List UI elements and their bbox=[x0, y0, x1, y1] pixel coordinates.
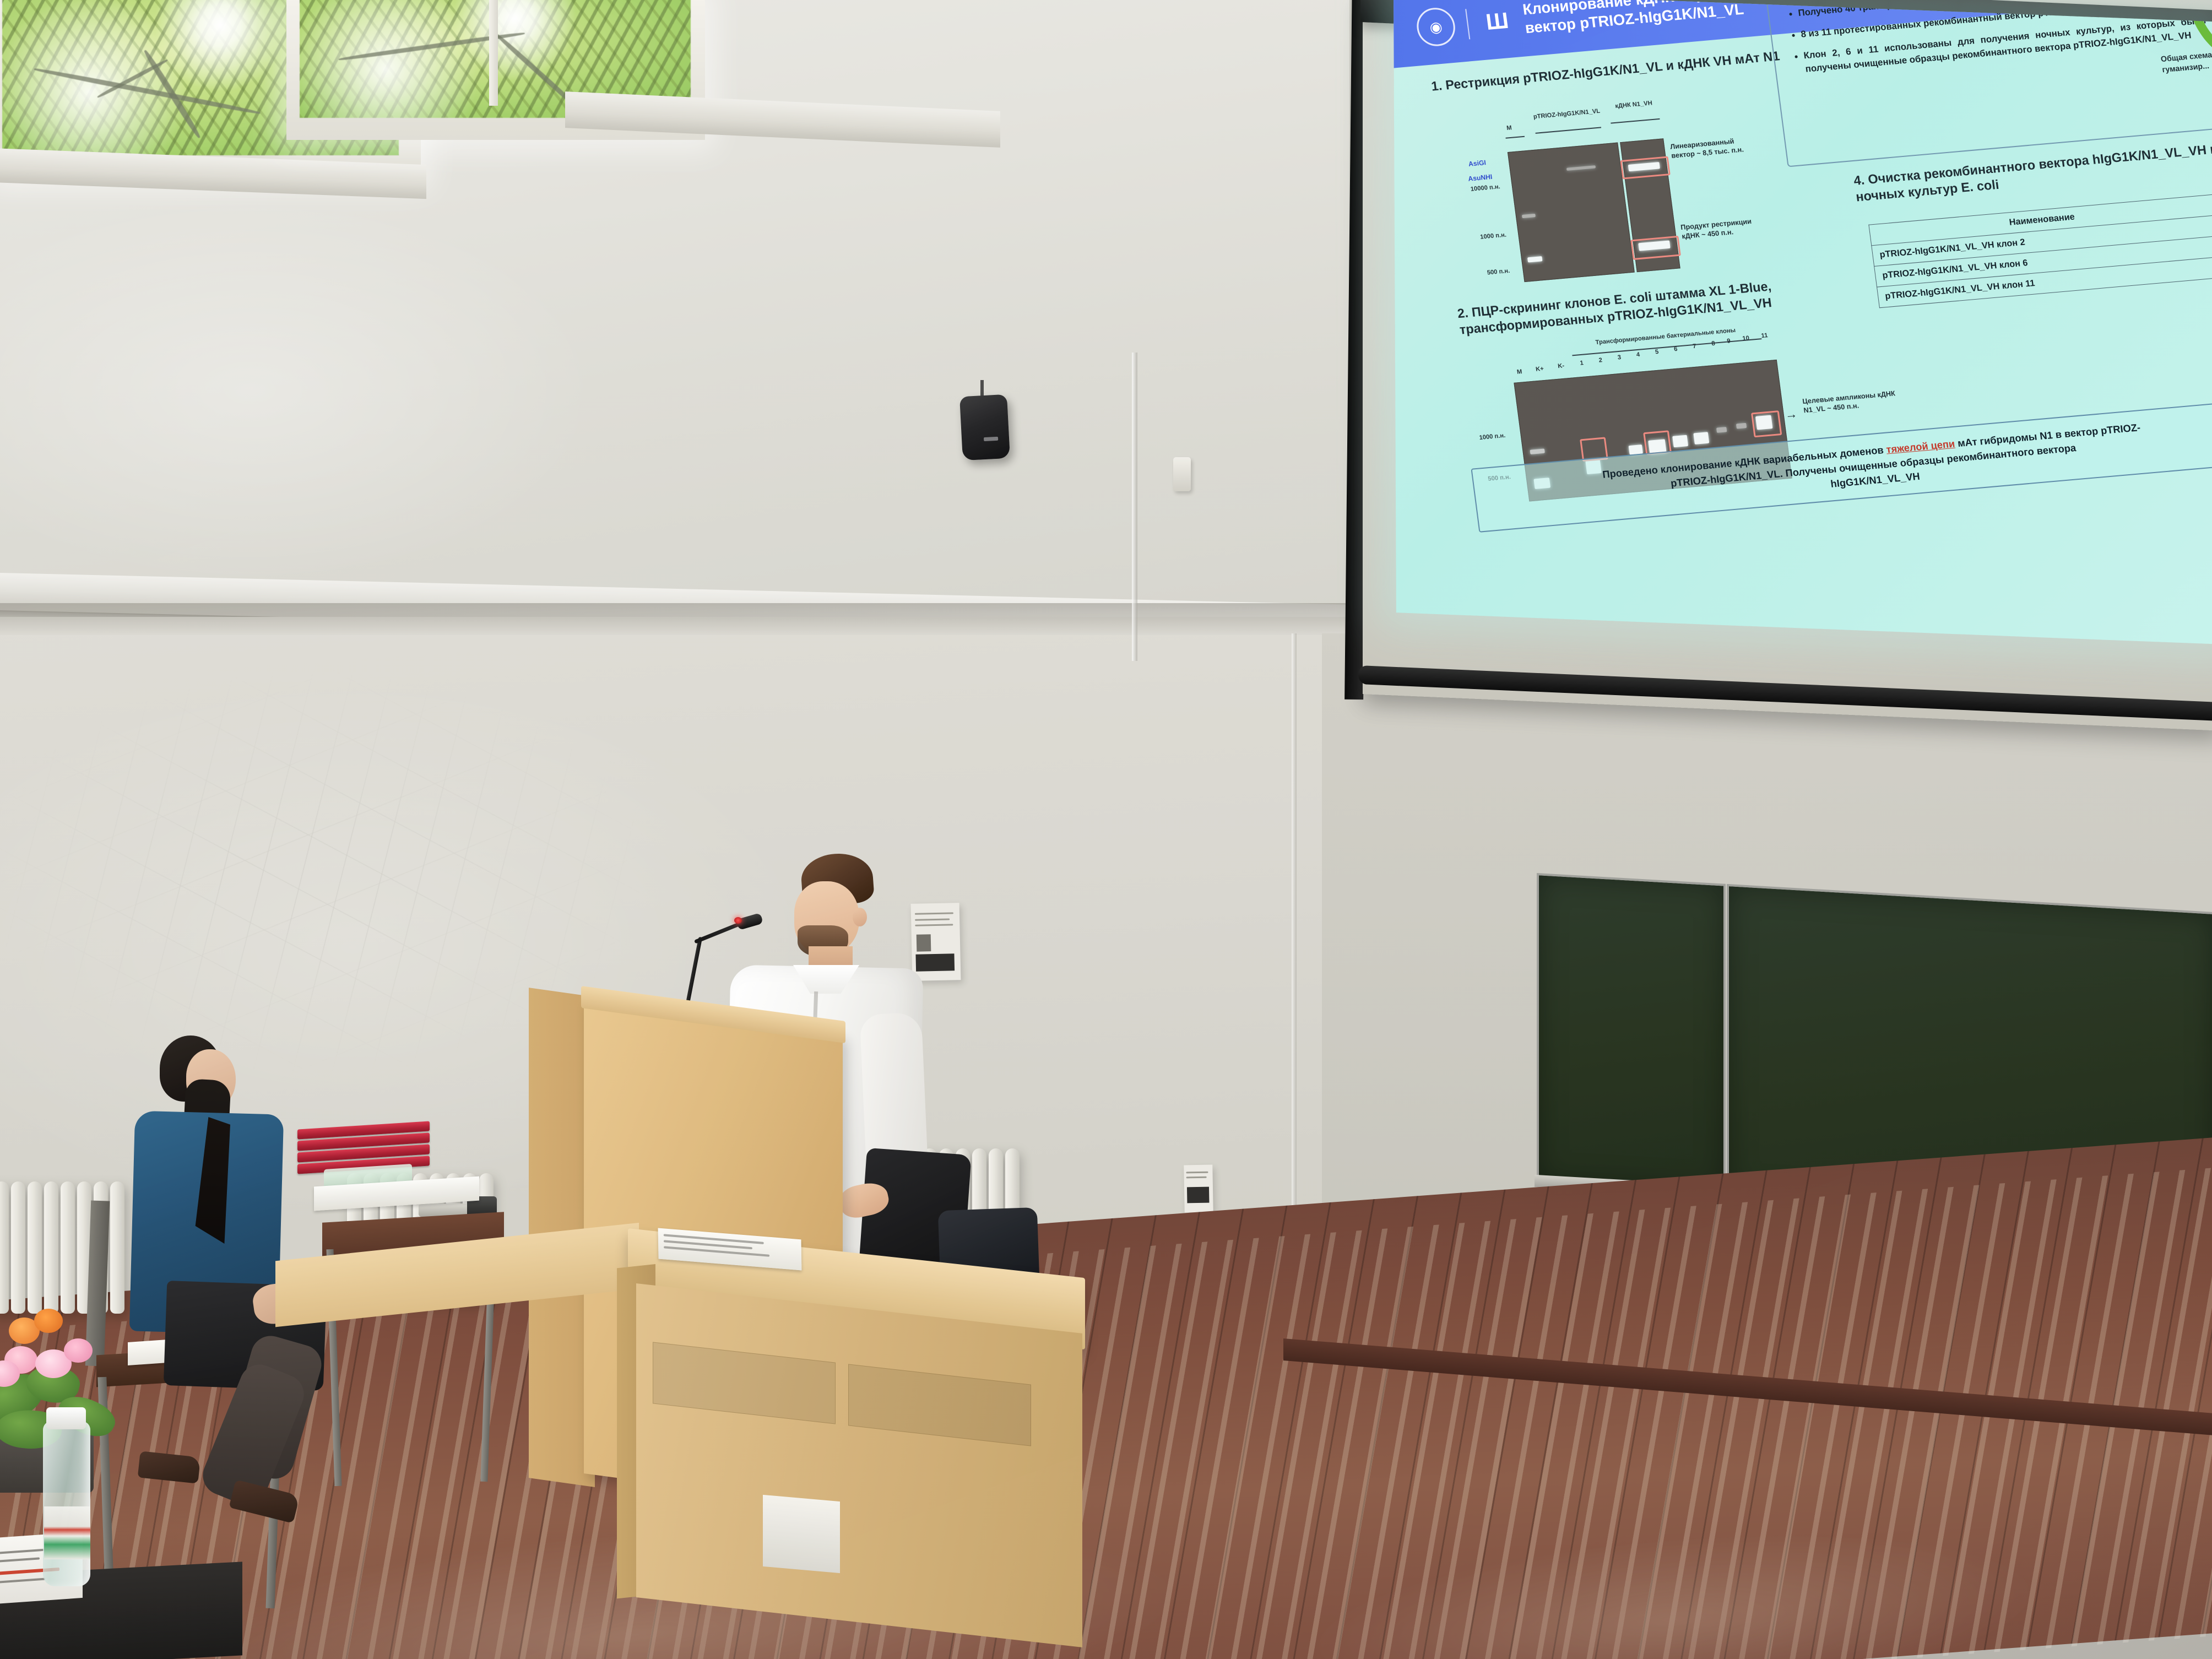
gel2-lane-9: 9 bbox=[1727, 338, 1731, 345]
gel2-lane-2: 2 bbox=[1598, 357, 1603, 364]
gel2-lane-1: 1 bbox=[1580, 360, 1584, 367]
gel2-lane-11: 11 bbox=[1761, 332, 1768, 339]
slide-section-2-heading: 2. ПЦР-скрининг клонов E. coli штамма XL… bbox=[1456, 272, 1839, 338]
gel2-lane-Km: K- bbox=[1558, 362, 1565, 370]
logo-divider bbox=[1465, 9, 1470, 39]
wall-speaker-icon bbox=[959, 394, 1010, 460]
institution-emblem-icon: ◉ bbox=[1414, 6, 1457, 47]
gel2-lane-8: 8 bbox=[1711, 340, 1716, 348]
lecture-room-photo: ◉ Ш Клонирование кДНК вариабельных домен… bbox=[0, 0, 2212, 1659]
tree-branch bbox=[34, 67, 261, 116]
gel1-lane-vector: pTRIOZ-hIgG1K/N1_VL bbox=[1533, 108, 1601, 121]
desk-front-panel bbox=[636, 1283, 1082, 1647]
gel1-ladder-10000: 10000 п.н. bbox=[1470, 183, 1500, 193]
gel2-highlight-box bbox=[1751, 410, 1782, 437]
gel2-lane-Kp: K+ bbox=[1535, 365, 1544, 372]
wall-seam bbox=[1132, 353, 1137, 661]
gel1-image bbox=[1508, 143, 1635, 283]
window-right bbox=[286, 0, 705, 140]
flower-bloom bbox=[34, 1309, 63, 1333]
bottle-cap[interactable] bbox=[46, 1407, 86, 1429]
flower-bloom bbox=[64, 1338, 93, 1363]
gel2-lane-M: M bbox=[1516, 368, 1522, 376]
projected-slide: ◉ Ш Клонирование кДНК вариабельных домен… bbox=[1394, 0, 2212, 644]
gel2-arrow-icon: → bbox=[1784, 406, 1798, 422]
window-mullion bbox=[489, 0, 498, 106]
gel1-ladder-1000: 1000 п.н. bbox=[1480, 231, 1507, 240]
gel2-lane-3: 3 bbox=[1617, 354, 1622, 361]
gel1-ladder-500: 500 п.н. bbox=[1487, 268, 1510, 276]
gel1-highlight-box bbox=[1630, 236, 1681, 260]
presenter-ear bbox=[853, 908, 867, 926]
gel1-enzyme-1: AsiGI bbox=[1468, 159, 1487, 168]
gel1-enzyme-2: AsuNHI bbox=[1468, 173, 1493, 183]
gel1-lane-m: M bbox=[1506, 124, 1512, 132]
gel2-lane-10: 10 bbox=[1742, 335, 1750, 342]
microphone-led-indicator bbox=[734, 917, 742, 924]
university-logo-icon: Ш bbox=[1478, 3, 1514, 40]
gel2-group-label: Трансформированные бактериальные клоны bbox=[1570, 325, 1760, 348]
water-bottle[interactable] bbox=[43, 1421, 90, 1586]
wall-poster bbox=[911, 903, 961, 981]
bottle-label bbox=[44, 1506, 90, 1559]
slide-bullet-box: Получено 40 трансформированных клонов 8 … bbox=[1766, 0, 2212, 167]
wall-poster bbox=[1184, 1165, 1213, 1213]
chalkboard-panel-left bbox=[1537, 873, 1726, 1194]
gel2-lane-5: 5 bbox=[1655, 349, 1659, 356]
gel1-lane-cdna: кДНК N1_VH bbox=[1608, 99, 1660, 110]
gel1-annotation-vector: Линеаризованный вектор ~ 8,5 тыс. п.н. bbox=[1669, 135, 1750, 161]
gel1-annotation-product: Продукт рестрикции кДНК ~ 450 п.н. bbox=[1680, 216, 1760, 241]
purification-table: Наименование Кон... pTRIOZ-hIgG1K/N1_VL_… bbox=[1868, 187, 2212, 308]
wall-sensor bbox=[1173, 457, 1191, 491]
gel2-lane-4: 4 bbox=[1636, 351, 1640, 359]
desk-under-box bbox=[763, 1495, 840, 1573]
gel2-annotation: Целевые ампликоны кДНК N1_VL ~ 450 п.н. bbox=[1802, 388, 1904, 415]
wall-shadow-band bbox=[0, 603, 1394, 635]
projection-screen-assembly: ◉ Ш Клонирование кДНК вариабельных домен… bbox=[1360, 0, 2212, 859]
gel2-ladder-1000: 1000 п.н. bbox=[1479, 432, 1506, 441]
